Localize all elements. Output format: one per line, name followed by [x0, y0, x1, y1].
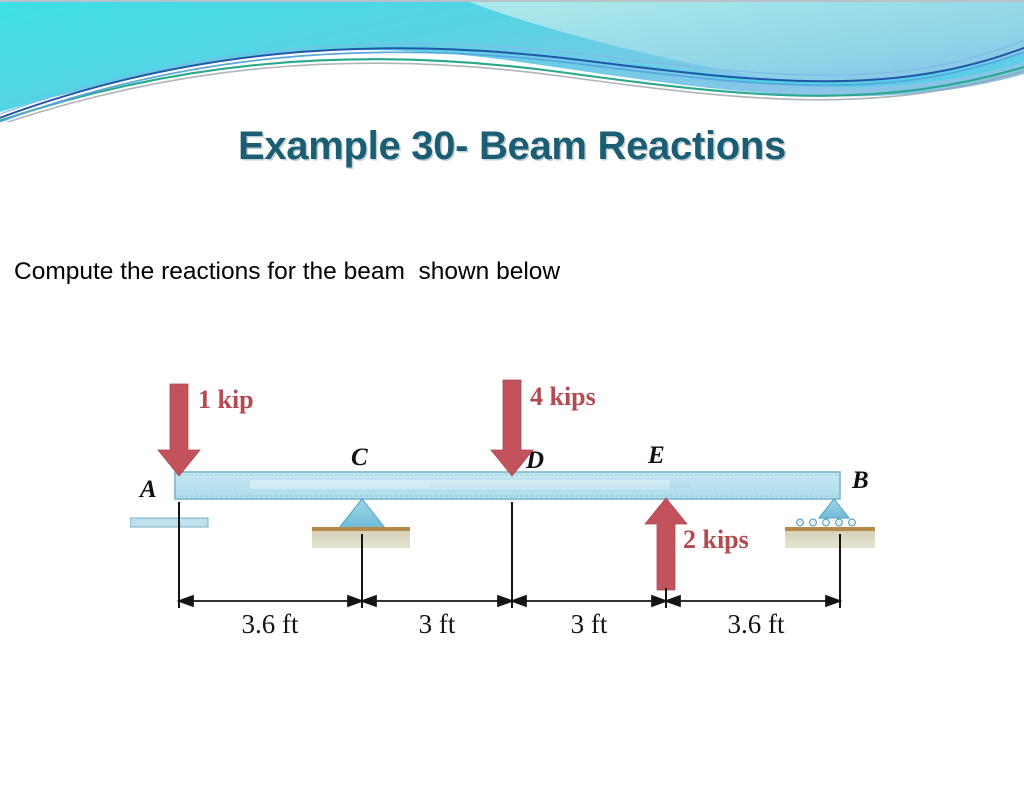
page-title: Example 30- Beam Reactions: [0, 124, 1024, 169]
load-arrow-1-kip: [158, 384, 200, 476]
dimension-label-E-B: 3.6 ft: [728, 609, 785, 639]
dimension-arrow-lines: [179, 596, 840, 606]
beam-point-label-C: C: [351, 444, 368, 471]
dimension-label-A-C: 3.6 ft: [242, 609, 299, 639]
dimension-extension-lines: [179, 502, 840, 608]
load-label-1-kip: 1 kip: [198, 385, 254, 414]
beam-point-label-E: E: [647, 442, 665, 469]
load-label-4-kips: 4 kips: [530, 382, 596, 411]
body-paragraph: Compute the reactions for the beam shown…: [14, 258, 914, 286]
load-label-2-kips: 2 kips: [683, 525, 749, 554]
beam-point-label-A: A: [138, 476, 157, 503]
beam-member: [175, 472, 840, 499]
slide-canvas: Example 30- Beam Reactions Compute the r…: [0, 0, 1024, 794]
dimension-label-D-E: 3 ft: [571, 609, 608, 639]
roller-support-B: [130, 499, 875, 548]
dimension-label-C-D: 3 ft: [419, 609, 456, 639]
beam-point-label-B: B: [851, 467, 869, 494]
beam-diagram: A C D E B 1 kip 4 kips 2 kips: [130, 358, 920, 648]
decorative-header-banner: [0, 0, 1024, 122]
load-arrow-2-kips: [645, 498, 687, 590]
